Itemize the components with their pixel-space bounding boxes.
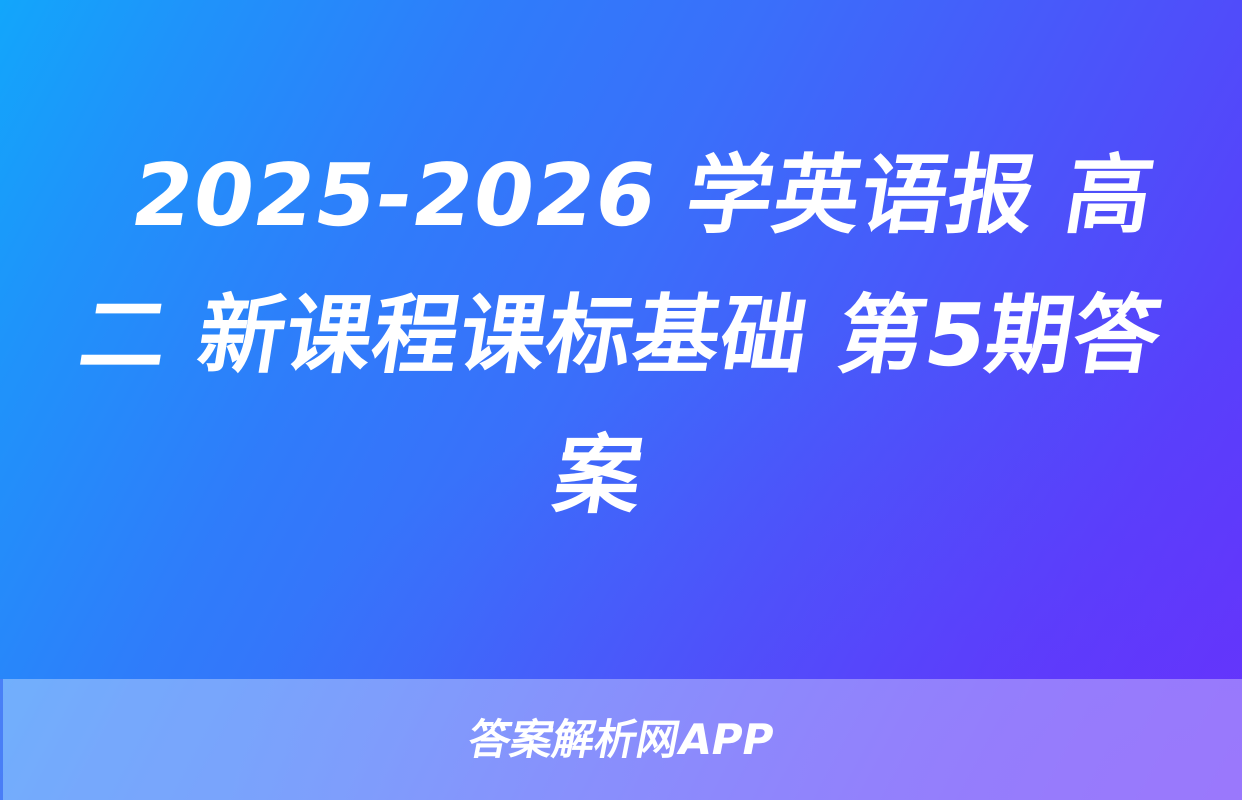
poster-title-block: 2025-2026 学英语报 高二 新课程课标基础 第5期答案: [0, 0, 1242, 679]
app-watermark-label: 答案解析网APP: [465, 719, 777, 761]
footer-watermark-band: 答案解析网APP: [0, 679, 1242, 800]
poster-canvas: 2025-2026 学英语报 高二 新课程课标基础 第5期答案 答案解析网APP: [0, 0, 1242, 800]
page-title: 2025-2026 学英语报 高二 新课程课标基础 第5期答案: [39, 126, 1204, 546]
